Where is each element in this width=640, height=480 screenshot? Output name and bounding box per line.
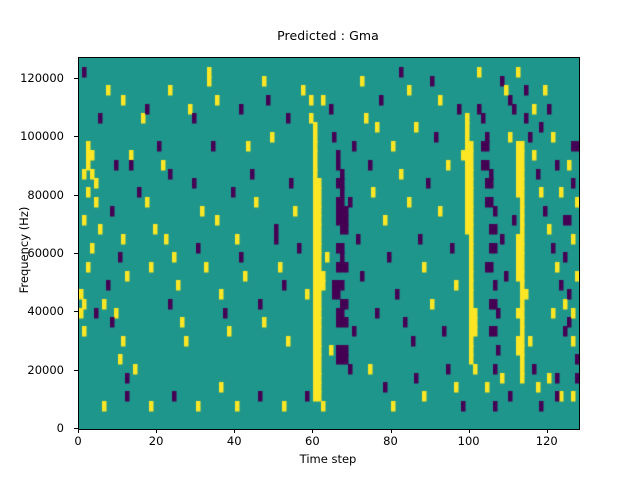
x-tick-label: 40 (227, 434, 242, 448)
x-tick-label: 60 (305, 434, 320, 448)
y-tick-label: 40000 (27, 304, 64, 318)
y-tick-label: 100000 (20, 129, 64, 143)
y-tick-mark (74, 311, 78, 312)
x-axis-label: Time step (78, 452, 578, 466)
x-tick-mark (234, 429, 235, 433)
x-tick-mark (78, 429, 79, 433)
y-axis-label: Frequency (Hz) (17, 180, 31, 320)
y-tick-label: 60000 (27, 246, 64, 260)
x-tick-mark (156, 429, 157, 433)
x-tick-label: 100 (458, 434, 480, 448)
x-tick-label: 0 (74, 434, 81, 448)
y-tick-mark (74, 370, 78, 371)
y-tick-mark (74, 78, 78, 79)
y-tick-label: 20000 (27, 363, 64, 377)
matplotlib-figure: Predicted : Gma 020000400006000080000100… (0, 0, 640, 480)
heatmap-axes (78, 57, 580, 430)
y-axis-tick-labels: 020000400006000080000100000120000 (0, 0, 72, 480)
x-tick-label: 20 (149, 434, 164, 448)
y-tick-label: 0 (57, 421, 64, 435)
x-tick-label: 120 (536, 434, 558, 448)
y-tick-mark (74, 136, 78, 137)
x-tick-mark (547, 429, 548, 433)
heatmap-canvas (79, 58, 579, 429)
y-tick-label: 120000 (20, 71, 64, 85)
x-tick-mark (469, 429, 470, 433)
y-tick-label: 80000 (27, 188, 64, 202)
y-tick-mark (74, 195, 78, 196)
chart-title: Predicted : Gma (78, 28, 578, 43)
x-tick-label: 80 (383, 434, 398, 448)
x-tick-mark (312, 429, 313, 433)
x-tick-mark (391, 429, 392, 433)
y-tick-mark (74, 253, 78, 254)
